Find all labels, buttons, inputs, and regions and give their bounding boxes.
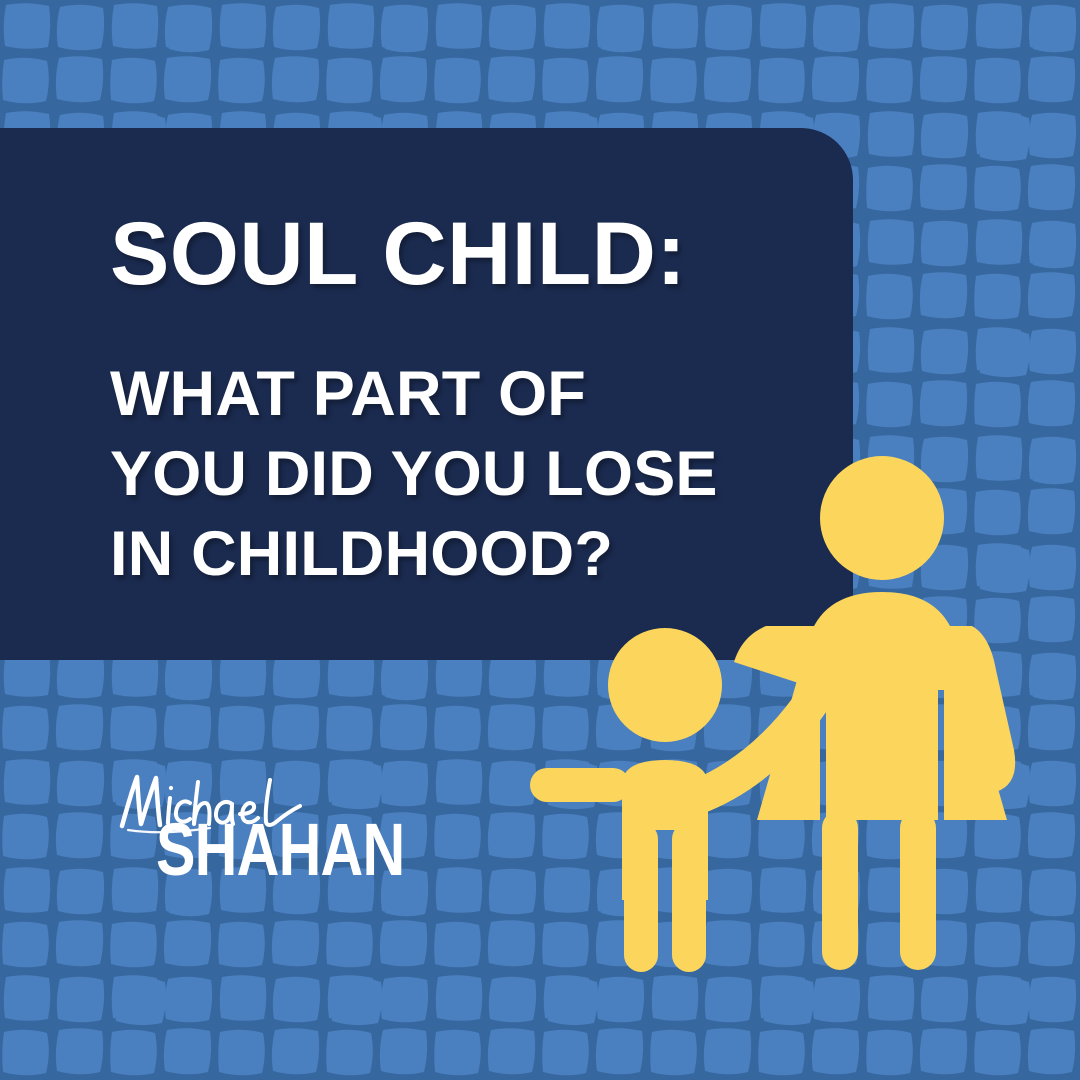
subtitle-line-1: WHAT PART OF: [110, 354, 853, 434]
brand-logo[interactable]: SHAHAN: [108, 768, 438, 890]
adult-figure: [734, 456, 1015, 970]
child-left-arm: [530, 768, 630, 802]
child-head: [608, 628, 722, 742]
adult-left-leg: [822, 810, 858, 970]
adult-head: [820, 456, 944, 580]
shahan-wordmark: SHAHAN: [156, 813, 404, 887]
child-right-leg: [672, 822, 706, 972]
adult-left-arm: [734, 626, 820, 690]
social-post-canvas: SOUL CHILD: WHAT PART OF YOU DID YOU LOS…: [0, 0, 1080, 1080]
child-left-leg: [624, 822, 658, 972]
page-title: SOUL CHILD:: [110, 212, 853, 296]
adult-right-leg: [900, 810, 936, 970]
family-pictogram-illustration: [520, 430, 1080, 1010]
